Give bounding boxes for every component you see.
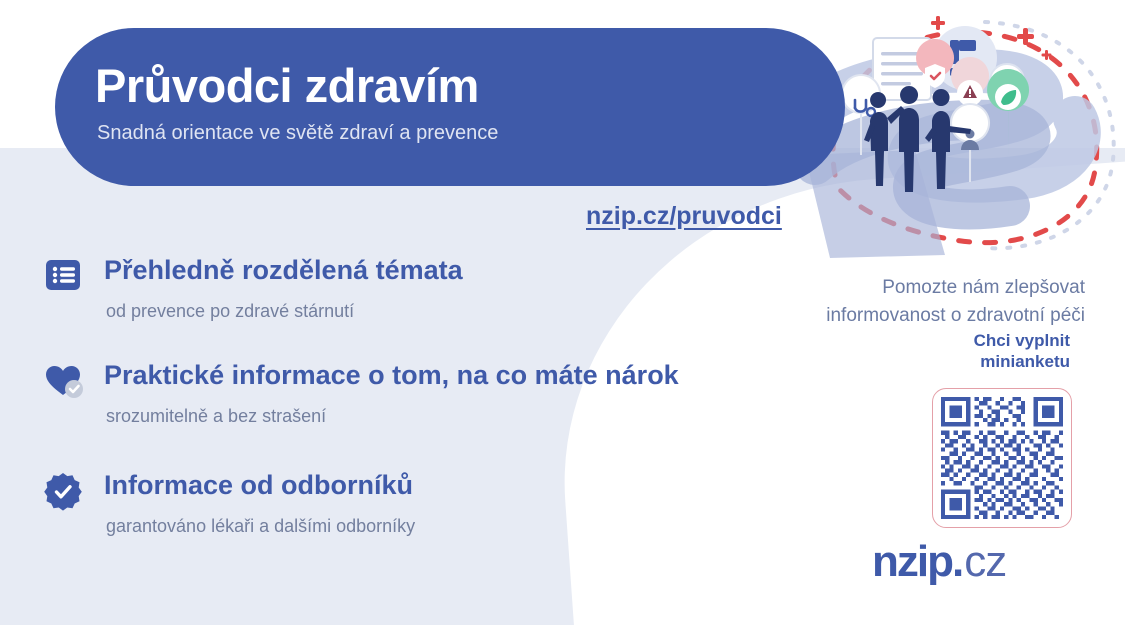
page-title: Průvodci zdravím xyxy=(95,58,479,113)
feature-subtitle: garantováno lékaři a dalšími odborníky xyxy=(106,516,415,537)
poster-canvas: Průvodci zdravím Snadná orientace ve svě… xyxy=(0,0,1125,625)
feature-subtitle: od prevence po zdravé stárnutí xyxy=(106,301,354,322)
survey-promo-text: Pomozte nám zlepšovat informovanost o zd… xyxy=(740,274,1085,329)
qr-code[interactable] xyxy=(932,388,1072,528)
feature-title: Přehledně rozdělená témata xyxy=(104,255,463,286)
feature-title: Praktické informace o tom, na co máte ná… xyxy=(104,360,679,391)
survey-cta-line1: Chci vyplnit xyxy=(840,330,1070,351)
logo-dot: . xyxy=(952,537,964,586)
verified-badge-icon xyxy=(44,472,86,512)
feature-title: Informace od odborníků xyxy=(104,470,413,501)
site-url-link[interactable]: nzip.cz/pruvodci xyxy=(586,202,782,231)
page-subtitle: Snadná orientace ve světě zdraví a preve… xyxy=(97,122,498,145)
logo-tld: cz xyxy=(964,537,1006,586)
survey-cta-label: Chci vyplnit minianketu xyxy=(840,330,1070,373)
survey-cta-line2: minianketu xyxy=(840,351,1070,372)
survey-promo-line1: Pomozte nám zlepšovat xyxy=(740,274,1085,302)
logo-mark: nzip xyxy=(872,537,952,586)
heart-check-icon xyxy=(44,362,86,402)
nzip-logo: nzip.cz xyxy=(872,540,1006,584)
health-guide-illustration xyxy=(795,0,1125,262)
list-icon xyxy=(44,257,86,297)
feature-subtitle: srozumitelně a bez strašení xyxy=(106,406,326,427)
survey-promo-line2: informovanost o zdravotní péči xyxy=(740,302,1085,330)
